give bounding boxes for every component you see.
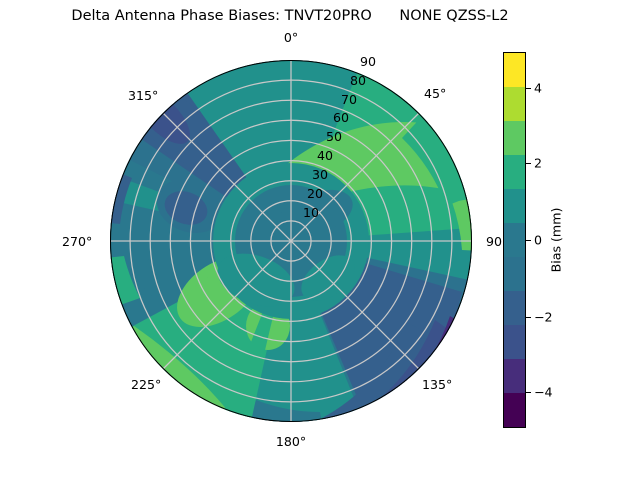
- r-tick-50: 50: [326, 129, 342, 144]
- colorbar-ticklabel-0: 0: [534, 233, 542, 248]
- colorbar-tick-neg2: [526, 317, 531, 318]
- r-tick-70: 70: [341, 92, 357, 107]
- colorbar-tick-4: [526, 88, 531, 89]
- colorbar-band: [504, 257, 525, 291]
- bias-contour-field: [110, 60, 472, 422]
- colorbar-band: [504, 53, 525, 87]
- colorbar-ticklabel-4: 4: [534, 81, 542, 96]
- colorbar-band: [504, 393, 525, 427]
- page-title: Delta Antenna Phase Biases: TNVT20PRO NO…: [0, 8, 580, 24]
- theta-tick-180: 180°: [276, 434, 306, 449]
- theta-tick-135: 135°: [422, 377, 452, 392]
- figure-canvas: Delta Antenna Phase Biases: TNVT20PRO NO…: [0, 0, 640, 480]
- colorbar-band: [504, 87, 525, 121]
- colorbar-ticklabel-neg2: −2: [534, 309, 553, 324]
- theta-tick-225: 225°: [131, 377, 161, 392]
- theta-tick-315: 315°: [128, 88, 158, 103]
- colorbar-ticklabel-2: 2: [534, 156, 542, 171]
- colorbar-band: [504, 359, 525, 393]
- colorbar-band: [504, 223, 525, 257]
- colorbar-gradient[interactable]: [503, 52, 526, 428]
- colorbar-ticklabel-neg4: −4: [534, 385, 553, 400]
- colorbar-band: [504, 291, 525, 325]
- r-tick-60: 60: [333, 110, 349, 125]
- colorbar-band: [504, 189, 525, 223]
- polar-axes: [110, 60, 472, 422]
- r-tick-90: 90: [360, 54, 376, 69]
- r-tick-10: 10: [303, 205, 319, 220]
- r-tick-40: 40: [317, 148, 333, 163]
- colorbar[interactable]: 4 2 0 −2 −4: [503, 52, 526, 428]
- r-tick-80: 80: [350, 73, 366, 88]
- r-tick-30: 30: [312, 167, 328, 182]
- colorbar-band: [504, 325, 525, 359]
- colorbar-band: [504, 121, 525, 155]
- polar-data-field: [110, 60, 472, 422]
- colorbar-band: [504, 155, 525, 189]
- theta-tick-270: 270°: [62, 234, 92, 249]
- colorbar-tick-2: [526, 163, 531, 164]
- r-tick-20: 20: [307, 186, 323, 201]
- colorbar-tick-neg4: [526, 392, 531, 393]
- theta-tick-0: 0°: [284, 30, 298, 45]
- theta-tick-45: 45°: [424, 86, 446, 101]
- colorbar-tick-0: [526, 240, 531, 241]
- colorbar-axis-label: Bias (mm): [549, 208, 564, 273]
